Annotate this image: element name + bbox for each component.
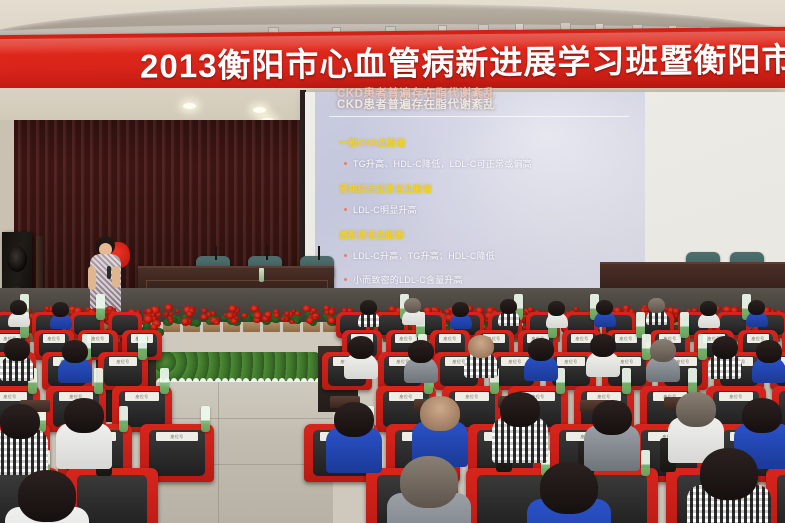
seat-number-plate: 座位号 xyxy=(125,392,159,401)
seat-number-plate: 座位号 xyxy=(43,334,65,343)
slide-heading-3: 透析患者血脂谱 xyxy=(339,228,404,241)
speaker-cone-icon xyxy=(7,246,27,272)
audience-head xyxy=(10,300,27,315)
water-bottle xyxy=(622,368,631,394)
tile-grout xyxy=(148,418,333,419)
audience-head xyxy=(400,456,458,508)
water-bottle xyxy=(688,368,697,394)
bullet-dot-icon xyxy=(344,278,347,281)
audience-head xyxy=(500,392,540,427)
seat-number-plate: 座位号 xyxy=(455,392,489,401)
slide-divider xyxy=(329,116,629,117)
audience-head xyxy=(540,462,598,514)
handheld-microphone-icon xyxy=(107,266,111,279)
slide-bullet-3-2: 小而致密的LDL-C含量升高 xyxy=(353,273,463,286)
audience-head xyxy=(596,300,613,315)
poinsettia-bloom xyxy=(150,313,156,318)
audience-head xyxy=(528,338,554,361)
slide-bullet-1-1: TG升高、HDL-C降低，LDL-C可正常或偏高 xyxy=(353,157,532,170)
audience-head xyxy=(408,340,434,363)
seat-number-plate: 座位号 xyxy=(719,392,753,401)
audience-head xyxy=(712,336,738,359)
audience-head xyxy=(590,334,616,357)
audience-head xyxy=(676,392,716,427)
downlight-icon xyxy=(183,103,196,109)
water-bottle xyxy=(96,294,105,320)
audience-head xyxy=(52,302,69,317)
audience-head xyxy=(452,302,469,317)
audience-head xyxy=(468,335,494,358)
water-bottle xyxy=(160,368,169,394)
audience-head xyxy=(700,448,758,500)
audience-head xyxy=(500,299,517,314)
bullet-dot-icon xyxy=(344,254,347,257)
banner-title: 2013衡阳市心血管病新进展学习班暨衡阳市心血 xyxy=(140,32,785,89)
audience-head xyxy=(700,301,717,316)
water-bottle xyxy=(138,334,147,360)
projected-slide: CKD患者普遍存在脂代谢紊乱 CKD患者普遍存在脂代谢紊乱 一般CKD血脂谱 T… xyxy=(315,92,645,307)
audience-head xyxy=(18,470,76,522)
slide-heading-1: 一般CKD血脂谱 xyxy=(339,136,406,149)
audience-head xyxy=(592,400,632,435)
audience-head xyxy=(334,402,374,437)
presenter-arm xyxy=(112,266,120,288)
audience-head xyxy=(650,339,676,362)
audience-head xyxy=(62,340,88,363)
audience-head xyxy=(420,396,460,431)
bullet-dot-icon xyxy=(344,162,347,165)
audience-head xyxy=(4,338,30,361)
audience-head xyxy=(0,404,40,439)
water-bottle xyxy=(201,406,210,432)
downlight-icon xyxy=(253,107,266,113)
slide-bullet-2-1: LDL-C明显升高 xyxy=(353,203,417,216)
audience-head xyxy=(648,298,665,313)
audience-head xyxy=(748,300,765,315)
seat-number-plate: 座位号 xyxy=(109,357,137,366)
microphone-icon xyxy=(215,246,217,260)
water-bottle xyxy=(259,268,264,282)
water-bottle xyxy=(698,334,707,360)
audience-head xyxy=(548,301,565,316)
audience-head xyxy=(360,300,377,315)
seat-number-plate: 座位号 xyxy=(557,357,585,366)
audience-head xyxy=(742,398,782,433)
tile-grout xyxy=(218,382,219,523)
audience-head xyxy=(404,298,421,313)
seat-cushion xyxy=(777,475,785,523)
audience-head xyxy=(348,336,374,359)
slide-heading-2: 肾病综合症患者血脂谱 xyxy=(339,182,432,195)
water-bottle xyxy=(641,450,650,476)
seat-number-plate: 座位号 xyxy=(439,334,461,343)
conference-hall-photo: 2013衡阳市心血管病新进展学习班暨衡阳市心血 CKD患者普遍存在脂代谢紊乱 C… xyxy=(0,0,785,523)
seat-number-plate: 座位号 xyxy=(615,334,637,343)
slide-title: CKD患者普遍存在脂代谢紊乱 xyxy=(337,96,637,112)
microphone-icon xyxy=(318,246,320,260)
microphone-icon xyxy=(266,246,268,260)
seat-number-plate: 座位号 xyxy=(156,432,197,441)
audience-head xyxy=(64,398,104,433)
audience-head xyxy=(756,340,782,363)
slide-bullet-3-1: LDL-C升高，TG升高；HDL-C降低 xyxy=(353,249,495,262)
water-bottle xyxy=(94,368,103,394)
bullet-dot-icon xyxy=(344,208,347,211)
water-bottle xyxy=(680,312,689,338)
water-bottle xyxy=(119,406,128,432)
